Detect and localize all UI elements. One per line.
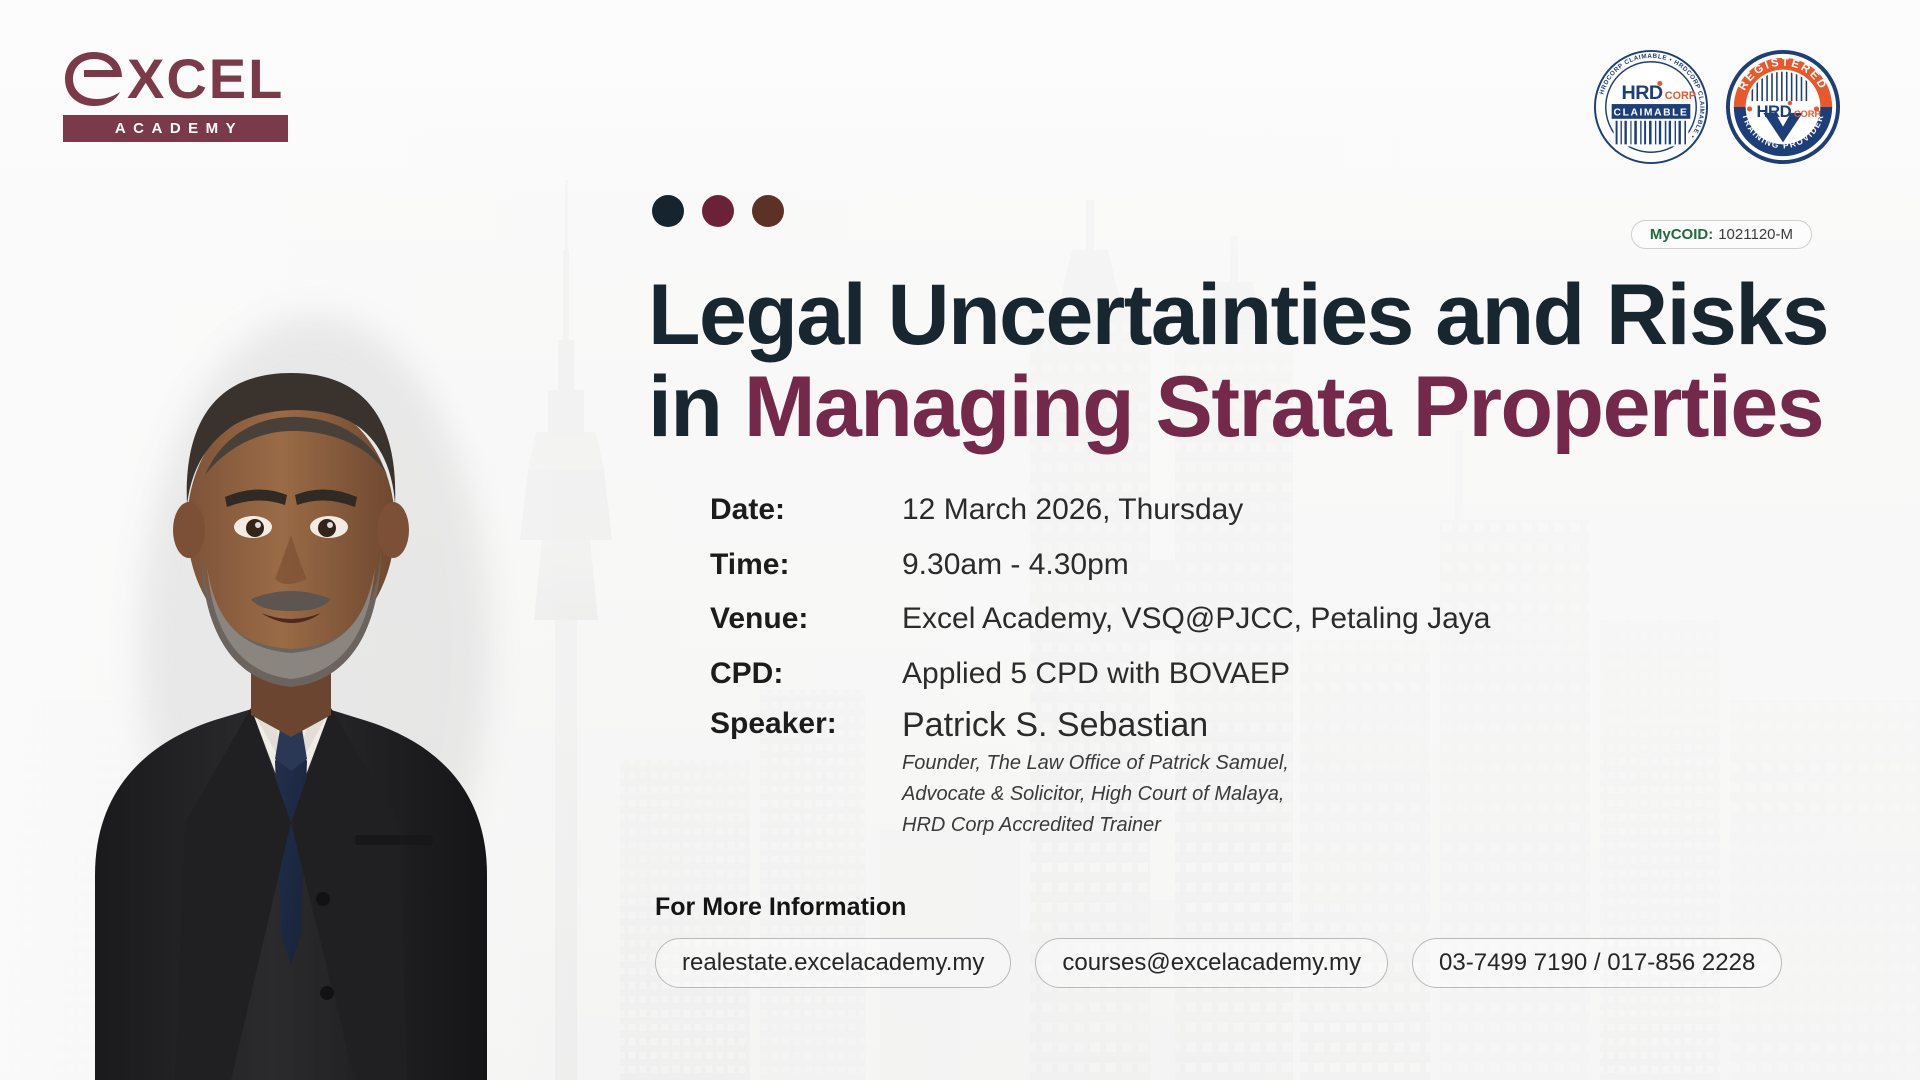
speaker-credential-3: HRD Corp Accredited Trainer <box>902 811 1289 840</box>
headline-line-2: in Managing Strata Properties <box>648 364 1888 452</box>
logo-academy-text: ACADEMY <box>108 120 243 137</box>
contact-email[interactable]: courses@excelacademy.my <box>1035 938 1388 988</box>
svg-text:HRD: HRD <box>1756 102 1791 121</box>
detail-row-date: Date: 12 March 2026, Thursday <box>710 490 1710 531</box>
headline-highlight: Managing Strata Properties <box>744 359 1823 455</box>
logo-academy-bar: ACADEMY <box>63 115 288 142</box>
logo-xcel-text: XCEL <box>127 51 284 107</box>
speaker-credential-1: Founder, The Law Office of Patrick Samue… <box>902 749 1289 778</box>
detail-value-date: 12 March 2026, Thursday <box>902 490 1243 531</box>
detail-value-venue: Excel Academy, VSQ@PJCC, Petaling Jaya <box>902 599 1490 640</box>
logo-wordmark: XCEL <box>63 48 288 110</box>
speaker-photo <box>55 175 525 1080</box>
headline-prefix: in <box>648 359 744 455</box>
headline-line-1: Legal Uncertainties and Risks <box>648 272 1888 360</box>
svg-text:CLAIMABLE: CLAIMABLE <box>1614 107 1689 118</box>
detail-label-date: Date: <box>710 490 902 531</box>
svg-text:HRD: HRD <box>1622 82 1663 104</box>
logo-e-mark <box>63 50 125 108</box>
hrdcorp-registered-training-provider-badge: REGISTERED TRAINING PROVIDER HRD CORP <box>1724 48 1842 166</box>
detail-label-time: Time: <box>710 545 902 586</box>
detail-row-speaker: Speaker: Patrick S. Sebastian Founder, T… <box>710 704 1710 840</box>
detail-value-time: 9.30am - 4.30pm <box>902 545 1129 586</box>
detail-label-cpd: CPD: <box>710 654 902 695</box>
page-title: Legal Uncertainties and Risks in Managin… <box>648 272 1888 451</box>
svg-text:CORP: CORP <box>1665 90 1696 102</box>
mycoid-value: 1021120-M <box>1718 226 1793 243</box>
detail-label-venue: Venue: <box>710 599 902 640</box>
detail-row-cpd: CPD: Applied 5 CPD with BOVAEP <box>710 654 1710 695</box>
contact-website[interactable]: realestate.excelacademy.my <box>655 938 1011 988</box>
dot-1 <box>652 195 684 227</box>
hrdcorp-claimable-badge: HRDCORP CLAIMABLE • HRDCORP CLAIMABLE • … <box>1592 48 1710 166</box>
decorative-dots <box>652 195 784 227</box>
detail-row-venue: Venue: Excel Academy, VSQ@PJCC, Petaling… <box>710 599 1710 640</box>
detail-row-time: Time: 9.30am - 4.30pm <box>710 545 1710 586</box>
contact-phone[interactable]: 03-7499 7190 / 017-856 2228 <box>1412 938 1782 988</box>
speaker-credential-2: Advocate & Solicitor, High Court of Mala… <box>902 780 1289 809</box>
footer-heading: For More Information <box>655 893 906 922</box>
detail-label-speaker: Speaker: <box>710 704 902 745</box>
speaker-info: Patrick S. Sebastian Founder, The Law Of… <box>902 704 1289 840</box>
dot-3 <box>752 195 784 227</box>
mycoid-badge: MyCOID:1021120-M <box>1631 220 1812 249</box>
dot-2 <box>702 195 734 227</box>
excel-academy-logo: XCEL ACADEMY <box>63 48 288 142</box>
speaker-portrait-illustration <box>55 175 525 1080</box>
svg-text:CORP: CORP <box>1794 109 1821 119</box>
accreditation-badges: HRDCORP CLAIMABLE • HRDCORP CLAIMABLE • … <box>1592 48 1842 166</box>
contact-pills: realestate.excelacademy.my courses@excel… <box>655 938 1782 988</box>
speaker-name: Patrick S. Sebastian <box>902 704 1289 747</box>
event-details: Date: 12 March 2026, Thursday Time: 9.30… <box>710 490 1710 840</box>
mycoid-label: MyCOID: <box>1650 226 1713 243</box>
detail-value-cpd: Applied 5 CPD with BOVAEP <box>902 654 1290 695</box>
